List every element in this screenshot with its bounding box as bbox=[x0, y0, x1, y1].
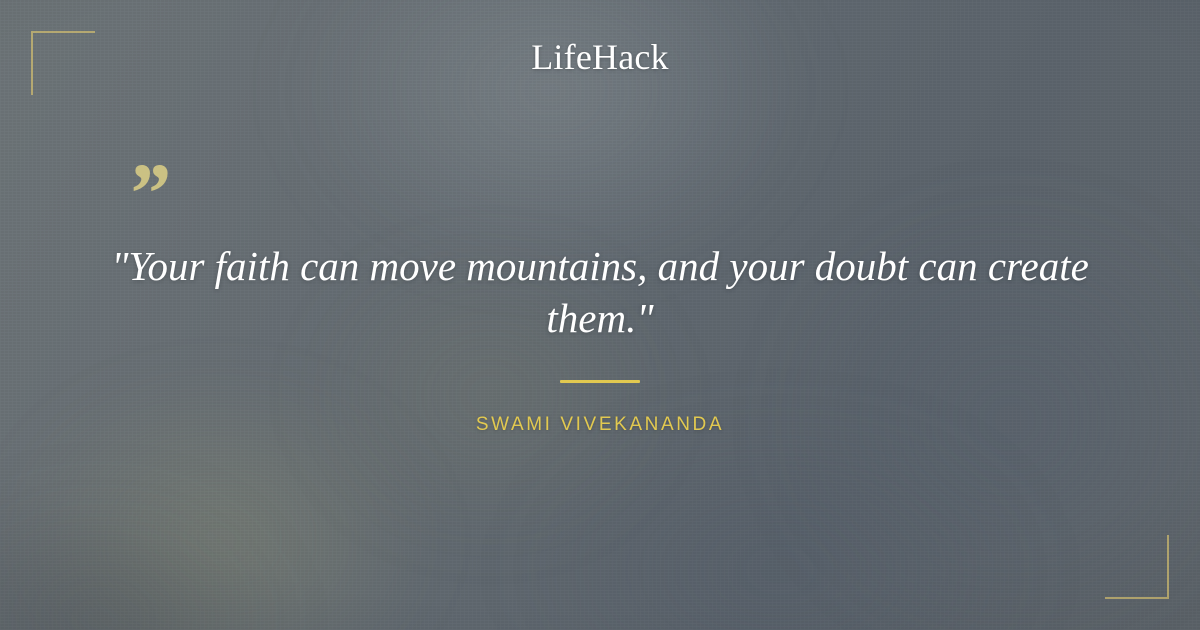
brand-logo: LifeHack bbox=[0, 39, 1200, 75]
quotation-mark-icon: ” bbox=[126, 150, 170, 236]
divider-rule bbox=[560, 380, 640, 383]
quote-card: LifeHack ” "Your faith can move mountain… bbox=[0, 0, 1200, 630]
card-content: LifeHack ” "Your faith can move mountain… bbox=[0, 0, 1200, 630]
quote-text: "Your faith can move mountains, and your… bbox=[96, 240, 1104, 344]
quote-author: SWAMI VIVEKANANDA bbox=[0, 414, 1200, 436]
